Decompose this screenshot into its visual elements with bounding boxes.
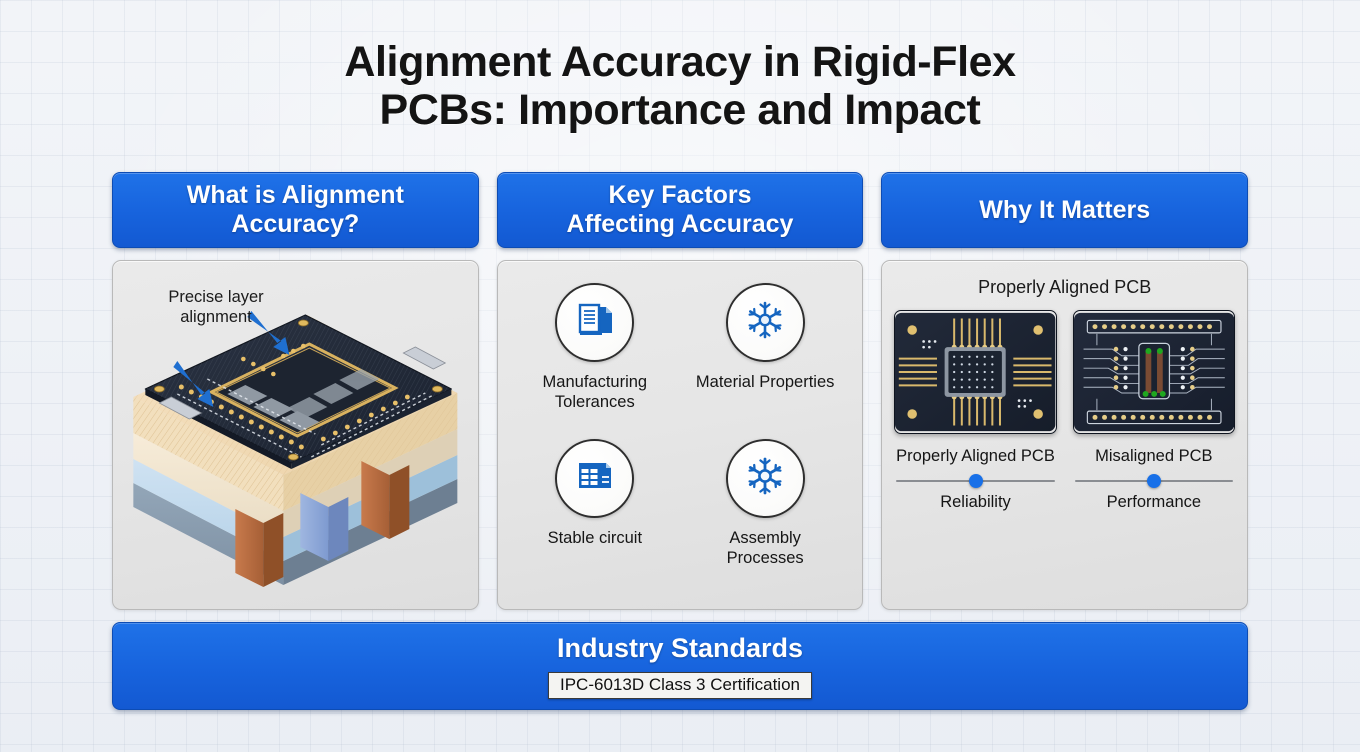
banner-title: Industry Standards (557, 633, 803, 664)
boards-row (894, 310, 1235, 434)
reliability-slider[interactable] (894, 473, 1056, 489)
factor-icon-circle (555, 439, 634, 518)
column-body-what-is-alignment-accuracy: Precise layer alignment (112, 260, 479, 610)
factor-stable-circuit[interactable]: Stable circuit (510, 439, 680, 595)
documents-icon (574, 299, 616, 346)
column-key-factors: Key Factors Affecting Accuracy (497, 172, 864, 610)
metrics-row: Properly Aligned PCB Reliability Misalig… (894, 447, 1235, 512)
factor-icon-circle (726, 439, 805, 518)
page-title-line-2: PCBs: Importance and Impact (0, 86, 1360, 134)
column-header-line-1: Key Factors (567, 181, 794, 210)
column-header-line-1: What is Alignment (187, 181, 404, 210)
metric-title: Misaligned PCB (1073, 447, 1235, 466)
factor-label-line-1: Stable circuit (548, 529, 642, 549)
column-header-key-factors[interactable]: Key Factors Affecting Accuracy (497, 172, 864, 248)
column-body-why-it-matters: Properly Aligned PCB (881, 260, 1248, 610)
column-header-what-is-alignment-accuracy[interactable]: What is Alignment Accuracy? (112, 172, 479, 248)
factor-label-line-1: Assembly Processes (690, 529, 840, 569)
column-header-why-it-matters[interactable]: Why It Matters (881, 172, 1248, 248)
column-what-is-alignment-accuracy: What is Alignment Accuracy? (112, 172, 479, 610)
factor-label: Material Properties (696, 373, 834, 393)
pcb-image-aligned (894, 310, 1056, 434)
column-header-line-2: Accuracy? (187, 210, 404, 239)
pcb-image-misaligned (1073, 310, 1235, 434)
column-header-line-2: Affecting Accuracy (567, 210, 794, 239)
snowflake-icon (744, 299, 786, 346)
performance-slider[interactable] (1073, 473, 1235, 489)
metric-subtitle: Performance (1073, 493, 1235, 512)
slider-thumb[interactable] (969, 474, 983, 488)
column-header-line-1: Why It Matters (979, 196, 1150, 225)
slider-thumb[interactable] (1147, 474, 1161, 488)
factor-icon-circle (555, 283, 634, 362)
factor-material-properties[interactable]: Material Properties (680, 283, 850, 439)
columns-container: What is Alignment Accuracy? (112, 172, 1248, 610)
column-body-key-factors: Manufacturing Tolerances (497, 260, 864, 610)
comparison-section-title: Properly Aligned PCB (894, 277, 1235, 298)
factor-manufacturing-tolerances[interactable]: Manufacturing Tolerances (510, 283, 680, 439)
page-title: Alignment Accuracy in Rigid-Flex PCBs: I… (0, 38, 1360, 134)
metric-reliability: Properly Aligned PCB Reliability (894, 447, 1056, 512)
column-why-it-matters: Why It Matters Properly Aligned PCB (881, 172, 1248, 610)
factor-assembly-processes[interactable]: Assembly Processes (680, 439, 850, 595)
factor-label: Stable circuit (548, 529, 642, 549)
comparison-section: Properly Aligned PCB (882, 261, 1247, 609)
factor-label: Manufacturing Tolerances (543, 373, 648, 413)
page-title-line-1: Alignment Accuracy in Rigid-Flex (0, 38, 1360, 86)
metric-title: Properly Aligned PCB (894, 447, 1056, 466)
factor-label-line-2: Tolerances (543, 393, 648, 413)
factor-icon-circle (726, 283, 805, 362)
metric-performance: Misaligned PCB Performance (1073, 447, 1235, 512)
spreadsheet-icon (574, 455, 616, 502)
metric-subtitle: Reliability (894, 493, 1056, 512)
factors-grid: Manufacturing Tolerances (498, 261, 863, 609)
factor-label-line-1: Manufacturing (543, 373, 648, 393)
certification-badge: IPC-6013D Class 3 Certification (548, 672, 812, 699)
industry-standards-banner: Industry Standards IPC-6013D Class 3 Cer… (112, 622, 1248, 710)
factor-label: Assembly Processes (690, 529, 840, 569)
annotation-precise-layer-alignment: Precise layer alignment (141, 287, 291, 327)
factor-label-line-1: Material Properties (696, 373, 834, 393)
snowflake-icon (744, 455, 786, 502)
